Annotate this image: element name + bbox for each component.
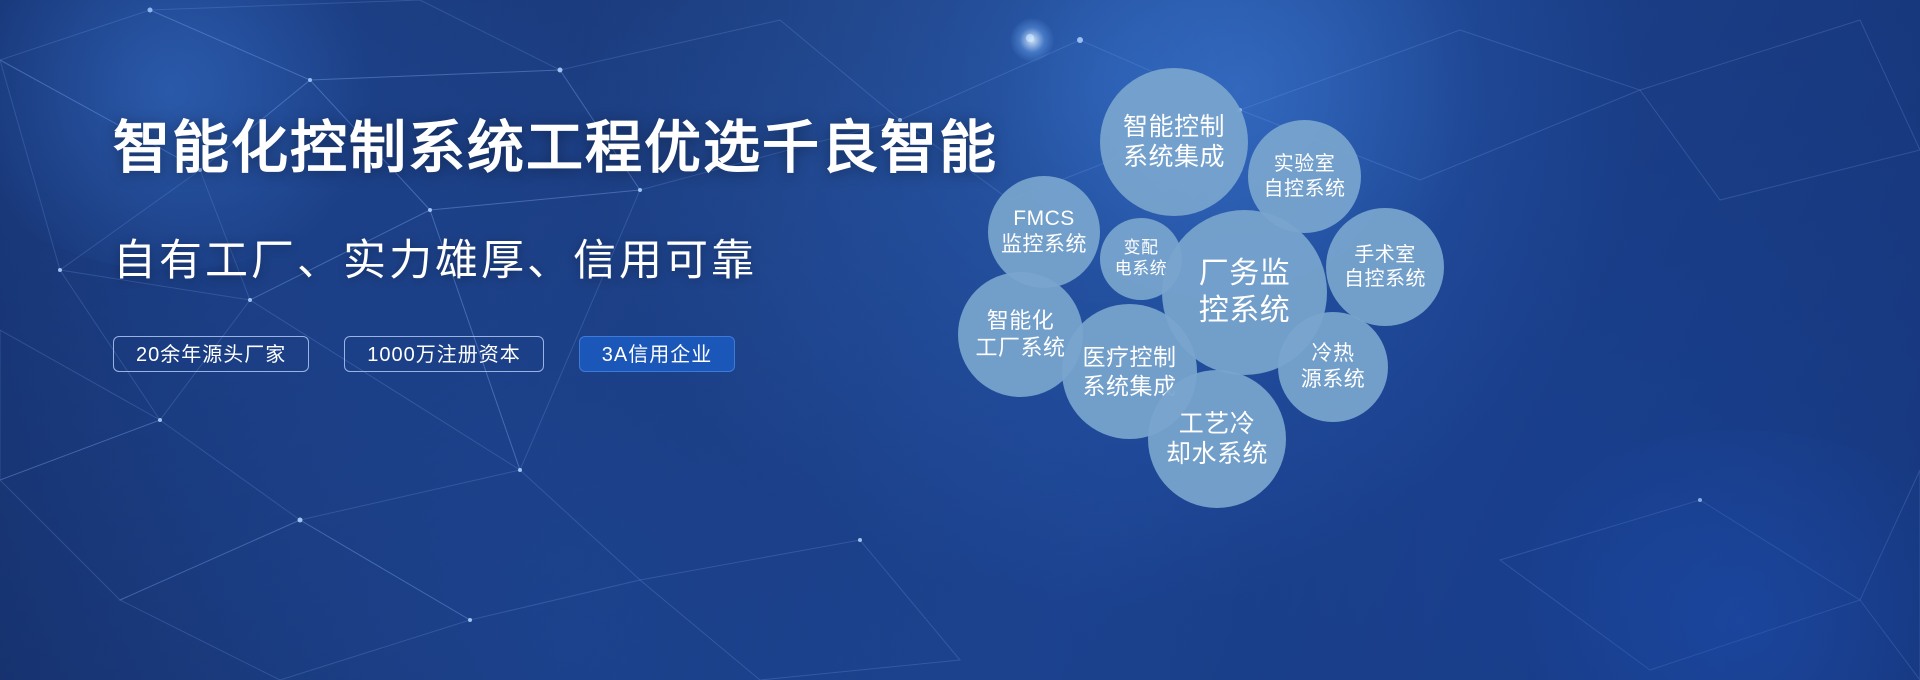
- bubble-line-2: 工厂系统: [975, 335, 1065, 360]
- bubble-line-1: 冷热: [1312, 342, 1355, 365]
- bubble-line-1: 医疗控制: [1083, 344, 1177, 370]
- hero-subheadline: 自有工厂、实力雄厚、信用可靠: [113, 226, 933, 288]
- bubble-line-1: 实验室: [1274, 153, 1336, 175]
- bubble-line-2: 监控系统: [1001, 233, 1087, 256]
- hero-copy: 智能化控制系统工程优选千良智能 自有工厂、实力雄厚、信用可靠 20余年源头厂家 …: [113, 118, 933, 372]
- bubble-line-2: 电系统: [1115, 259, 1168, 278]
- bubble-operating-room-automatic-control-system[interactable]: 手术室 自控系统: [1326, 208, 1444, 326]
- bubble-cold-heat-source-system[interactable]: 冷热 源系统: [1278, 312, 1388, 422]
- bubble-line-1: 厂务监: [1199, 257, 1291, 290]
- hero-banner: 智能化控制系统工程优选千良智能 自有工厂、实力雄厚、信用可靠 20余年源头厂家 …: [0, 0, 1920, 680]
- bubble-line-1: 变配: [1124, 238, 1159, 257]
- bubble-line-2: 自控系统: [1344, 268, 1426, 290]
- bubble-line-2: 却水系统: [1166, 440, 1268, 468]
- page-title: 智能化控制系统工程优选千良智能: [113, 118, 933, 180]
- bubble-process-cooling-water-system[interactable]: 工艺冷 却水系统: [1148, 370, 1286, 508]
- bubble-line-1: 工艺冷: [1179, 410, 1256, 438]
- bubble-line-2: 源系统: [1301, 368, 1366, 391]
- bubble-line-1: 智能控制: [1123, 113, 1225, 141]
- badge-registered-capital[interactable]: 1000万注册资本: [344, 336, 544, 372]
- badge-years-manufacturer[interactable]: 20余年源头厂家: [113, 336, 309, 372]
- bubble-line-2: 控系统: [1199, 294, 1291, 327]
- bubble-line-2: 自控系统: [1264, 178, 1346, 200]
- bubble-fmcs-monitoring-system[interactable]: FMCS 监控系统: [988, 176, 1100, 288]
- bubble-line-1: 智能化: [987, 308, 1055, 333]
- service-bubble-cluster: 智能控制 系统集成 实验室 自控系统 手术室 自控系统 FMCS 监控系统 变配…: [940, 40, 1840, 560]
- bubble-intelligent-control-system-integration[interactable]: 智能控制 系统集成: [1100, 68, 1248, 216]
- badge-list: 20余年源头厂家 1000万注册资本 3A信用企业: [113, 336, 933, 372]
- bubble-line-2: 系统集成: [1123, 143, 1225, 171]
- bubble-line-1: 手术室: [1354, 244, 1416, 266]
- badge-3a-credit-enterprise[interactable]: 3A信用企业: [579, 336, 735, 372]
- bubble-line-1: FMCS: [1013, 207, 1075, 230]
